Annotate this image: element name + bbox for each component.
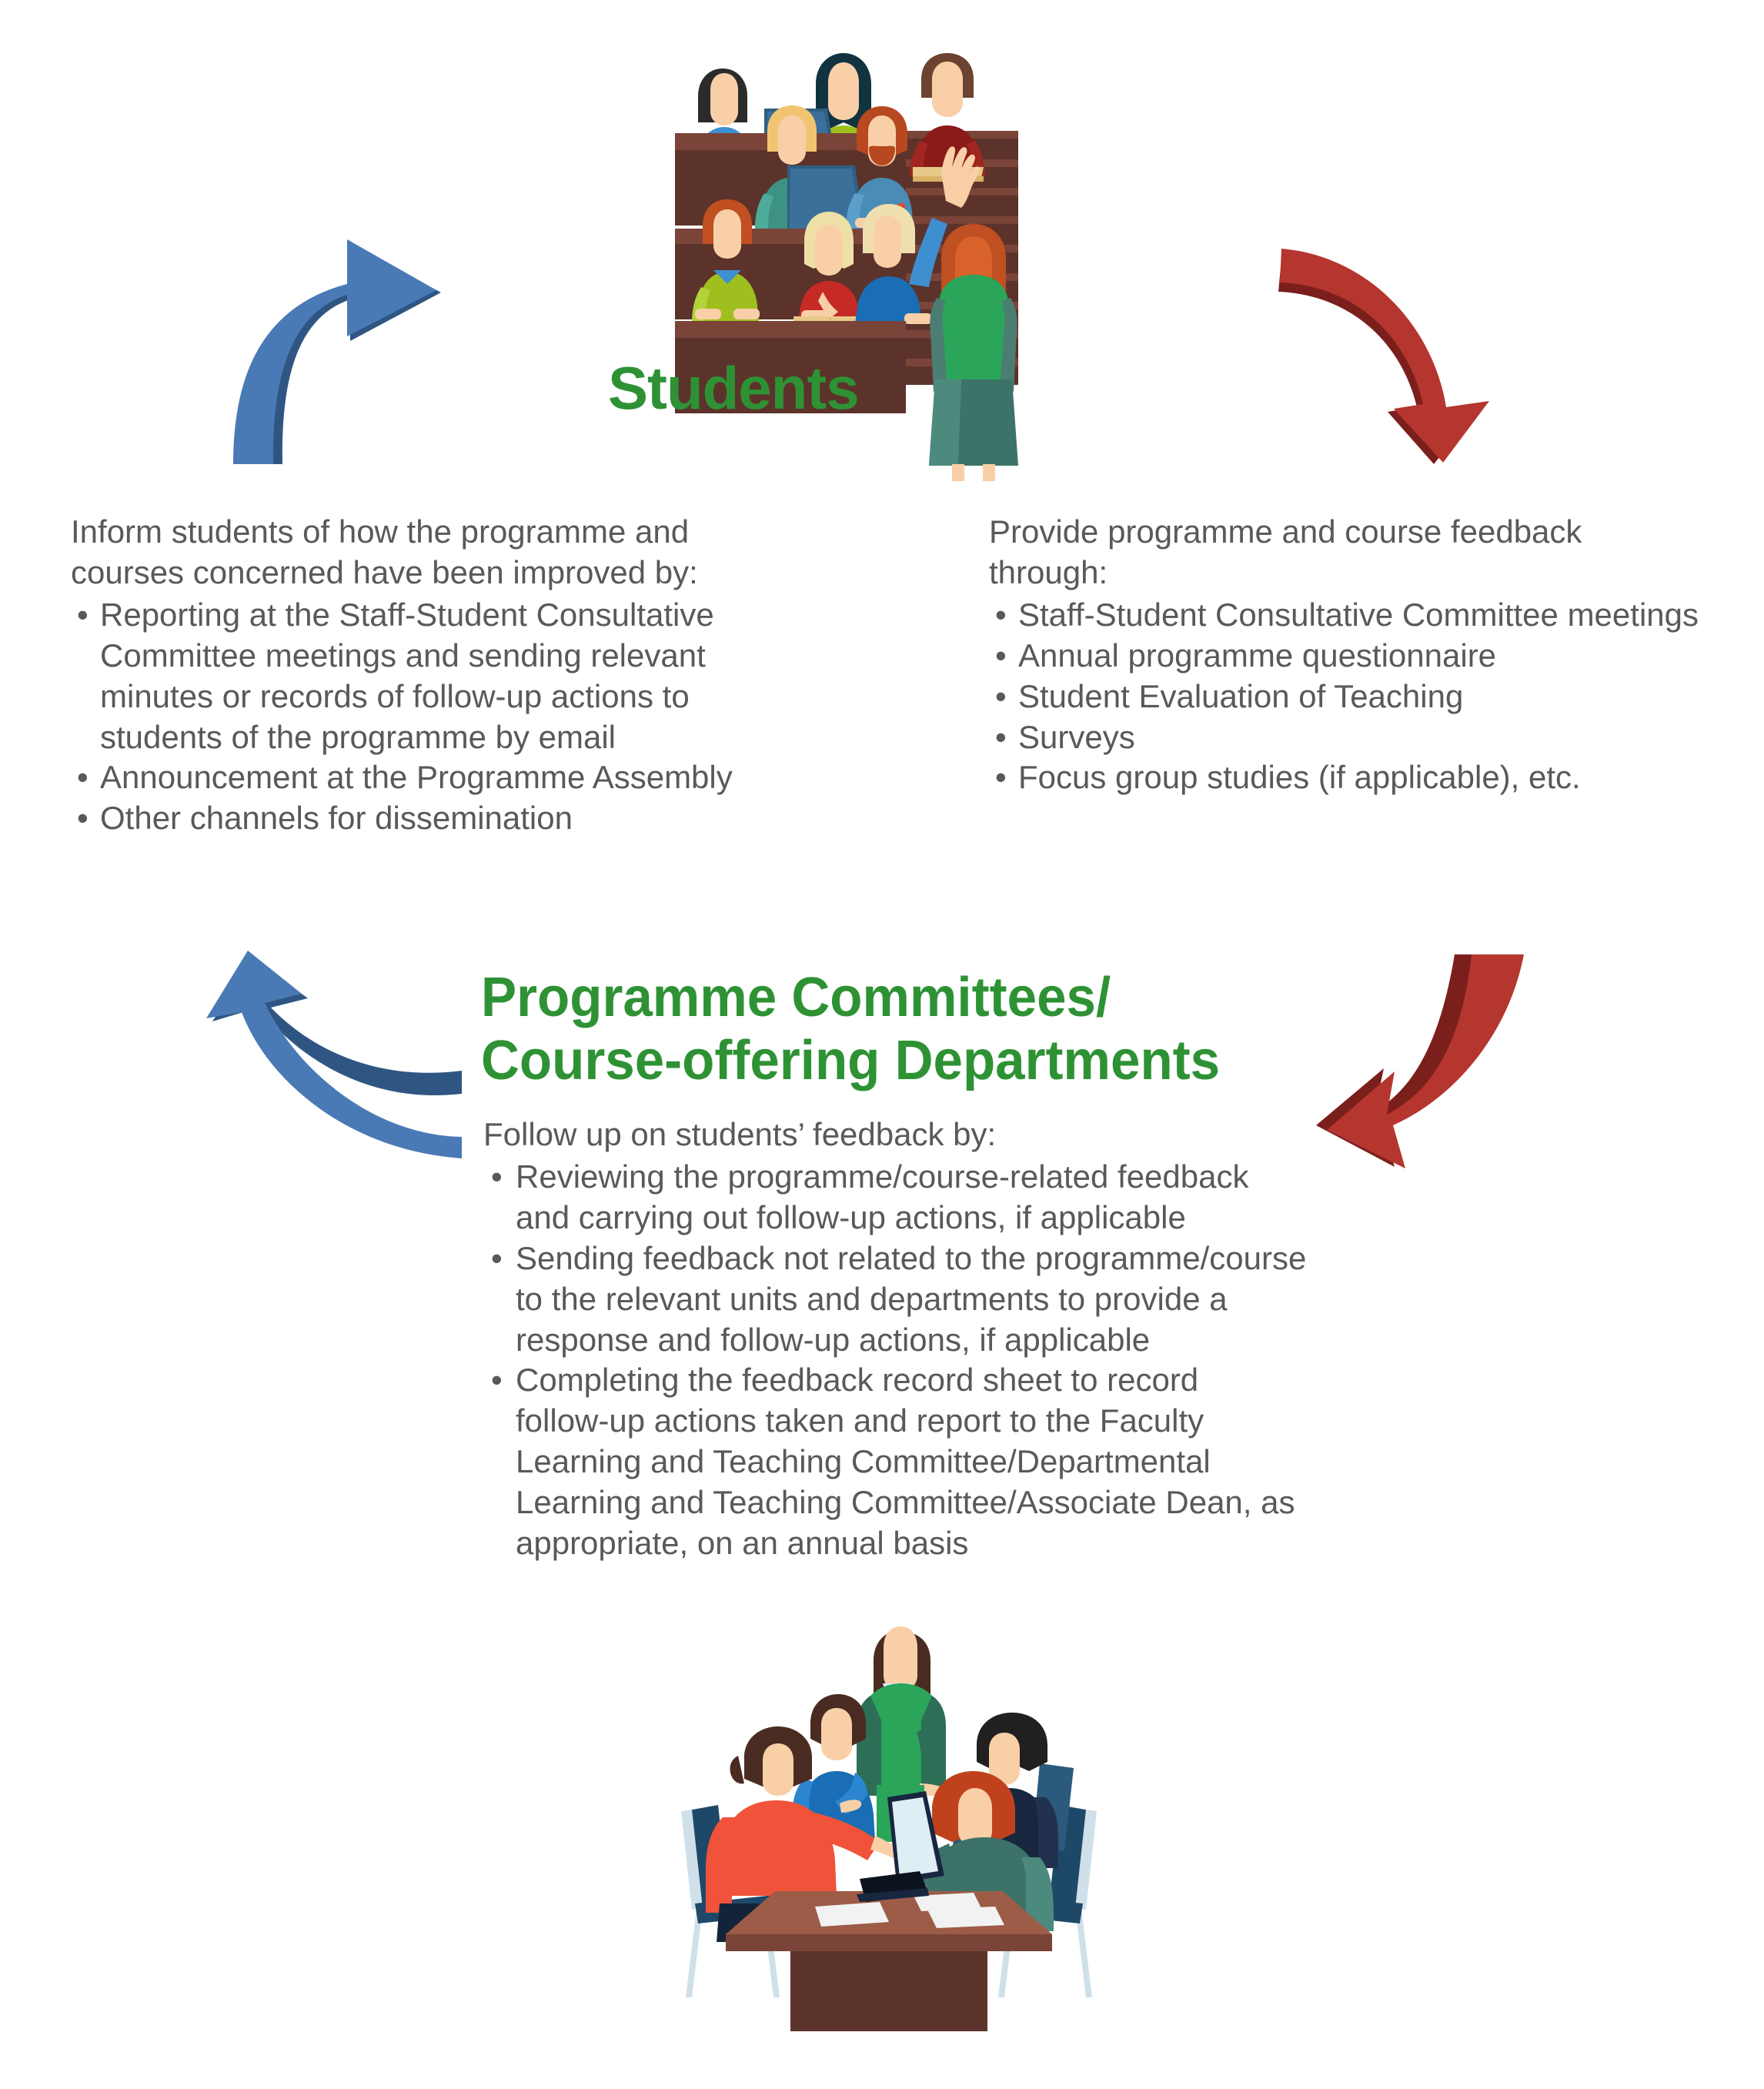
bullet-line: Focus group studies (if applicable), etc… [1018, 757, 1728, 798]
list-item: Student Evaluation of Teaching [989, 677, 1728, 717]
bullet-line: Committee meetings and sending relevant [100, 636, 748, 677]
curved-arrow-down-right-red-icon [1251, 219, 1520, 466]
bullet-line: students of the programme by email [100, 717, 748, 758]
curved-arrow-down-left-red-icon [1301, 924, 1585, 1170]
committee-meeting-table-illustration [658, 1613, 1120, 2032]
page-title-students: Students [608, 358, 859, 418]
bullet-line: Sending feedback not related to the prog… [516, 1238, 1330, 1279]
bullet-line: and carrying out follow-up actions, if a… [516, 1198, 1330, 1238]
list-item: Announcement at the Programme Assembly [71, 757, 748, 798]
list-item: Staff-Student Consultative Committee mee… [989, 595, 1728, 636]
list-item: Reporting at the Staff-Student Consultat… [71, 595, 748, 758]
curved-arrow-up-right-blue-icon [196, 219, 458, 466]
left-panel-inform-students: Inform students of how the programme and… [71, 512, 748, 839]
bullet-line: appropriate, on an annual basis [516, 1523, 1330, 1564]
committee-title-line-2: Course-offering Departments [481, 1029, 1220, 1092]
bullet-line: Announcement at the Programme Assembly [100, 757, 748, 798]
bullet-line: minutes or records of follow-up actions … [100, 677, 748, 717]
list-item: Sending feedback not related to the prog… [483, 1238, 1330, 1361]
left-panel-intro: Inform students of how the programme and… [71, 512, 748, 593]
committee-panel-follow-up: Follow up on students’ feedback by: Revi… [483, 1115, 1330, 1564]
bullet-line: Learning and Teaching Committee/Departme… [516, 1442, 1330, 1482]
bullet-line: follow-up actions taken and report to th… [516, 1401, 1330, 1442]
page-title-committee: Programme Committees/ Course-offering De… [481, 966, 1220, 1092]
bullet-line: Student Evaluation of Teaching [1018, 677, 1728, 717]
committee-panel-intro: Follow up on students’ feedback by: [483, 1115, 1330, 1155]
list-item: Completing the feedback record sheet to … [483, 1360, 1330, 1564]
bullet-line: Reporting at the Staff-Student Consultat… [100, 595, 748, 636]
bullet-line: Other channels for dissemination [100, 798, 748, 839]
bullet-line: to the relevant units and departments to… [516, 1279, 1330, 1320]
bullet-line: Annual programme questionnaire [1018, 636, 1728, 677]
list-item: Other channels for dissemination [71, 798, 748, 839]
curved-arrow-up-left-blue-icon [185, 928, 462, 1158]
bullet-line: response and follow-up actions, if appli… [516, 1320, 1330, 1361]
right-panel-provide-feedback: Provide programme and course feedback th… [989, 512, 1728, 798]
list-item: Surveys [989, 717, 1728, 758]
left-panel-bullet-list: Reporting at the Staff-Student Consultat… [71, 595, 748, 839]
bullet-line: Reviewing the programme/course-related f… [516, 1157, 1330, 1198]
feedback-loop-diagram: Students Programme Committees/ Course-of… [0, 0, 1764, 2089]
committee-title-line-1: Programme Committees/ [481, 966, 1220, 1029]
right-panel-intro: Provide programme and course feedback th… [989, 512, 1728, 593]
bullet-line: Completing the feedback record sheet to … [516, 1360, 1330, 1401]
list-item: Focus group studies (if applicable), etc… [989, 757, 1728, 798]
committee-panel-bullet-list: Reviewing the programme/course-related f… [483, 1157, 1330, 1564]
list-item: Reviewing the programme/course-related f… [483, 1157, 1330, 1238]
bullet-line: Staff-Student Consultative Committee mee… [1018, 595, 1728, 636]
bullet-line: Learning and Teaching Committee/Associat… [516, 1482, 1330, 1523]
right-panel-bullet-list: Staff-Student Consultative Committee mee… [989, 595, 1728, 799]
bullet-line: Surveys [1018, 717, 1728, 758]
list-item: Annual programme questionnaire [989, 636, 1728, 677]
